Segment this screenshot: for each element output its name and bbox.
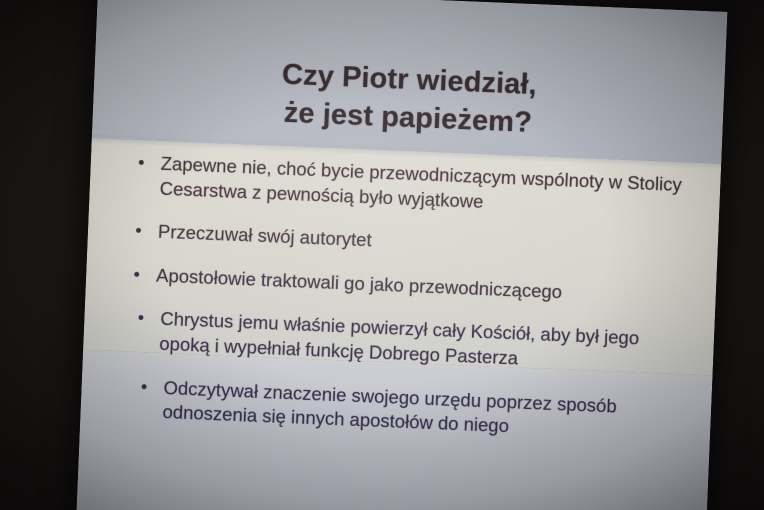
slide-bullet-item: Apostołowie traktowali go jako przewodni… bbox=[126, 262, 689, 310]
slide-bullet-item: Odczytywał znaczenie swojego urzędu popr… bbox=[132, 374, 684, 446]
bullet-text: Przeczuwał swój autorytet bbox=[158, 221, 373, 251]
bullet-text: Apostołowie traktowali go jako przewodni… bbox=[156, 264, 563, 302]
slide-bullet-item: Przeczuwał swój autorytet bbox=[127, 219, 690, 267]
slide-bullet-list: Zapewne nie, choć bycie przewodniczącym … bbox=[119, 151, 692, 466]
bullet-dot-icon bbox=[136, 228, 141, 233]
slide-bullet-item: Zapewne nie, choć bycie przewodniczącym … bbox=[129, 151, 693, 223]
bullet-text: Zapewne nie, choć bycie przewodniczącym … bbox=[159, 153, 682, 212]
slide-bullet-item: Chrystus jemu właśnie powierzył cały Koś… bbox=[129, 306, 687, 378]
slide-title: Czy Piotr wiedział, że jest papieżem? bbox=[92, 49, 725, 149]
slide-content: Czy Piotr wiedział, że jest papieżem? Za… bbox=[76, 0, 728, 510]
bullet-dot-icon bbox=[139, 160, 144, 165]
bullet-dot-icon bbox=[138, 315, 143, 320]
bullet-text: Chrystus jemu właśnie powierzył cały Koś… bbox=[159, 308, 640, 368]
photo-frame: Czy Piotr wiedział, że jest papieżem? Za… bbox=[0, 0, 764, 510]
bullet-text: Odczytywał znaczenie swojego urzędu popr… bbox=[162, 377, 617, 437]
projected-slide: Czy Piotr wiedział, że jest papieżem? Za… bbox=[76, 0, 728, 510]
bullet-dot-icon bbox=[142, 384, 147, 389]
bullet-dot-icon bbox=[134, 272, 139, 277]
